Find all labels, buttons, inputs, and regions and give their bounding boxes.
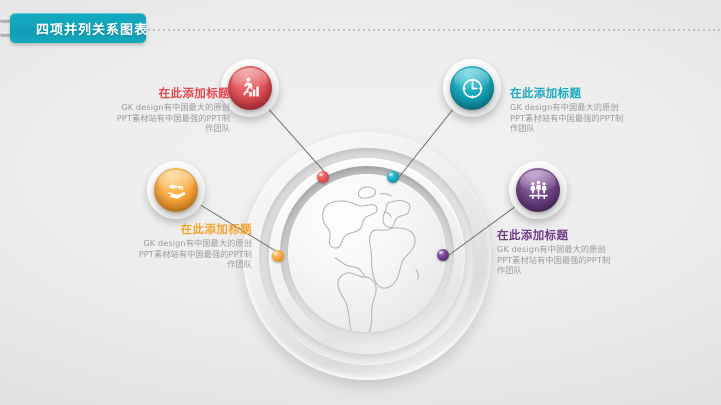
- icon-button-purple[interactable]: [509, 161, 567, 219]
- icon-button-teal[interactable]: [443, 59, 501, 117]
- pin-marker-teal[interactable]: [387, 171, 399, 183]
- header-dotted-rule: [148, 29, 721, 31]
- section-title-purple: 在此添加标题: [497, 228, 615, 242]
- page-title: 四项并列关系图表: [36, 19, 148, 38]
- pin-marker-orange[interactable]: [272, 250, 284, 262]
- person-bar-chart-icon: [238, 76, 262, 100]
- section-body-red: GK design有中国最大的原创PPT素材站有中国最强的PPT制作团队: [112, 102, 230, 134]
- team-org-chart-icon: [526, 178, 551, 203]
- section-body-orange: GK design有中国最大的原创PPT素材站有中国最强的PPT制作团队: [134, 238, 252, 270]
- text-block-orange: 在此添加标题 GK design有中国最大的原创PPT素材站有中国最强的PPT制…: [134, 222, 252, 270]
- pin-marker-purple[interactable]: [437, 249, 449, 261]
- section-title-orange: 在此添加标题: [134, 222, 252, 236]
- text-block-red: 在此添加标题 GK design有中国最大的原创PPT素材站有中国最强的PPT制…: [112, 86, 230, 134]
- text-block-teal: 在此添加标题 GK design有中国最大的原创PPT素材站有中国最强的PPT制…: [510, 86, 628, 134]
- text-block-purple: 在此添加标题 GK design有中国最大的原创PPT素材站有中国最强的PPT制…: [497, 228, 615, 276]
- section-title-teal: 在此添加标题: [510, 86, 628, 100]
- section-body-teal: GK design有中国最大的原创PPT素材站有中国最强的PPT制作团队: [510, 102, 628, 134]
- world-globe-icon: [288, 174, 446, 332]
- section-body-purple: GK design有中国最大的原创PPT素材站有中国最强的PPT制作团队: [497, 244, 615, 276]
- clock-icon: [460, 76, 485, 101]
- section-title-red: 在此添加标题: [112, 86, 230, 100]
- title-banner: 四项并列关系图表: [10, 13, 146, 43]
- icon-button-orange[interactable]: [147, 161, 205, 219]
- pin-marker-red[interactable]: [317, 171, 329, 183]
- hand-key-icon: [164, 178, 189, 203]
